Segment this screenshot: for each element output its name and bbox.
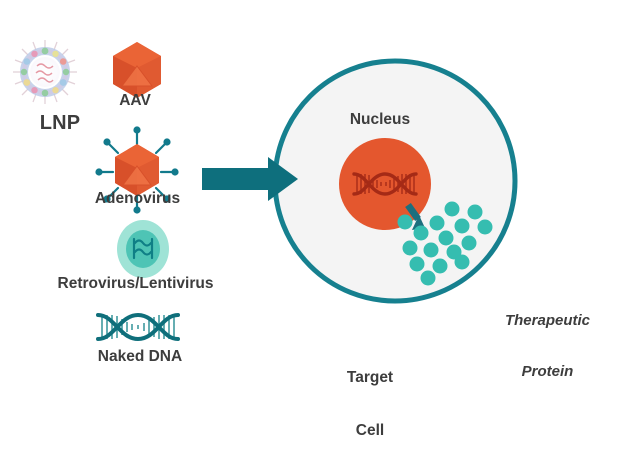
label-target-cell-line2: Cell — [320, 422, 420, 440]
label-retrovirus-lentivirus: Retrovirus/Lentivirus — [28, 275, 243, 293]
label-adenovirus: Adenovirus — [75, 190, 200, 208]
label-naked-dna: Naked DNA — [80, 348, 200, 366]
label-lnp: LNP — [0, 112, 120, 135]
lipid-nanoparticle-icon — [13, 40, 77, 104]
label-therapeutic-line2: Protein — [485, 363, 610, 380]
enveloped-rna-virus-icon — [117, 220, 169, 278]
label-aav: AAV — [85, 92, 185, 110]
label-target-cell-line1: Target — [320, 369, 420, 387]
label-target-cell: Target Cell — [320, 333, 420, 458]
label-therapeutic-protein: Therapeutic Protein — [485, 277, 610, 398]
dna-double-helix-icon — [98, 315, 178, 339]
label-therapeutic-line1: Therapeutic — [485, 312, 610, 329]
icosahedral-capsid-icon — [113, 42, 161, 98]
label-nucleus: Nucleus — [325, 111, 435, 129]
